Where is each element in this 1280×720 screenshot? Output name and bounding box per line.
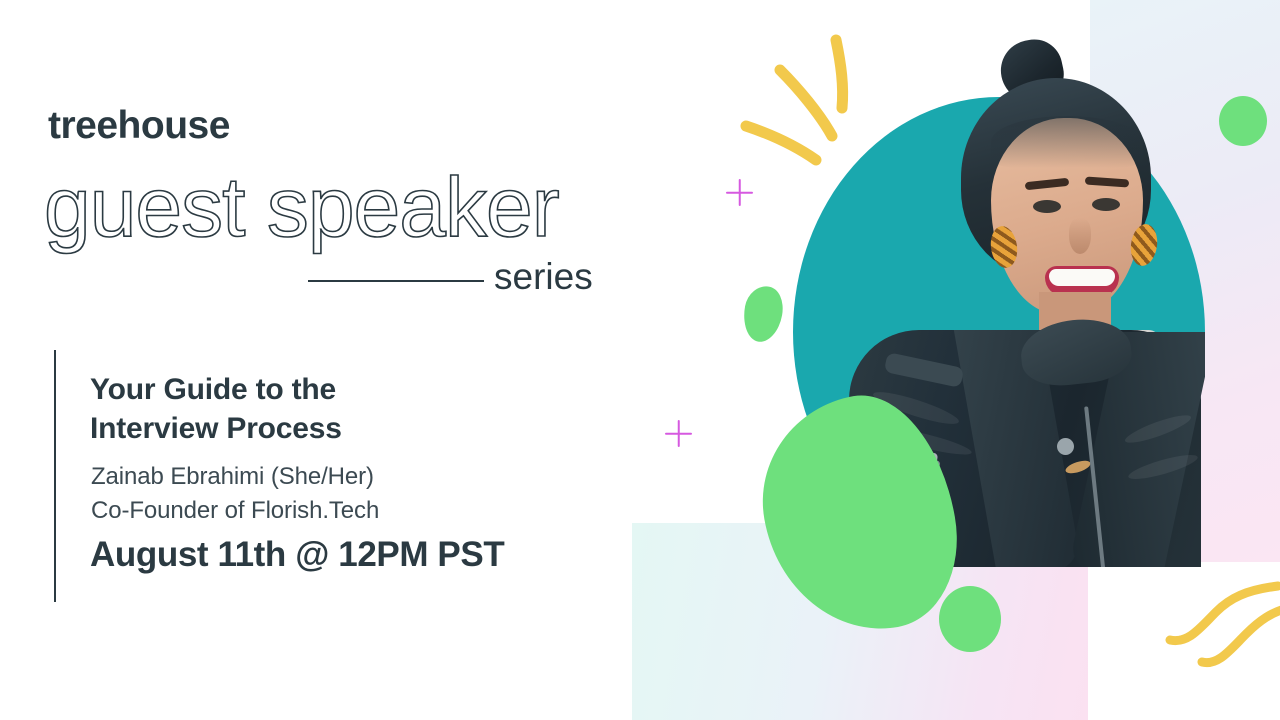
svg-text:guest speaker: guest speaker — [44, 160, 559, 254]
plus-mark-icon — [665, 420, 692, 447]
brand-wordmark: treehouse — [48, 106, 230, 145]
event-headline: Your Guide to the Interview Process — [90, 370, 610, 448]
series-title-outline: guest speaker — [44, 160, 644, 260]
speaker-role-label: Co-Founder of Florish.Tech — [91, 495, 379, 527]
jacket-snap-button — [1057, 438, 1074, 455]
series-divider-rule — [308, 280, 484, 282]
event-headline-line-1: Your Guide to the — [90, 370, 610, 409]
eye-left — [1033, 200, 1061, 213]
hair-fringe-shape — [991, 116, 1143, 168]
eye-right — [1092, 198, 1120, 211]
organic-blob-icon-small — [739, 283, 786, 345]
teeth-shape — [1049, 269, 1115, 286]
promo-slide: treehouse guest speaker series Your Guid… — [0, 0, 1280, 720]
series-suffix-label: series — [494, 258, 593, 295]
sparkle-rays-icon — [740, 30, 900, 190]
green-circle-icon-bottom — [939, 586, 1001, 652]
speaker-name-label: Zainab Ebrahimi (She/Her) — [91, 461, 374, 493]
vertical-accent-rule — [54, 350, 56, 602]
event-headline-line-2: Interview Process — [90, 409, 610, 448]
wavy-lines-icon — [1160, 570, 1280, 680]
nose-shape — [1069, 218, 1091, 254]
green-circle-icon-top — [1219, 96, 1267, 146]
event-datetime-label: August 11th @ 12PM PST — [90, 536, 504, 575]
